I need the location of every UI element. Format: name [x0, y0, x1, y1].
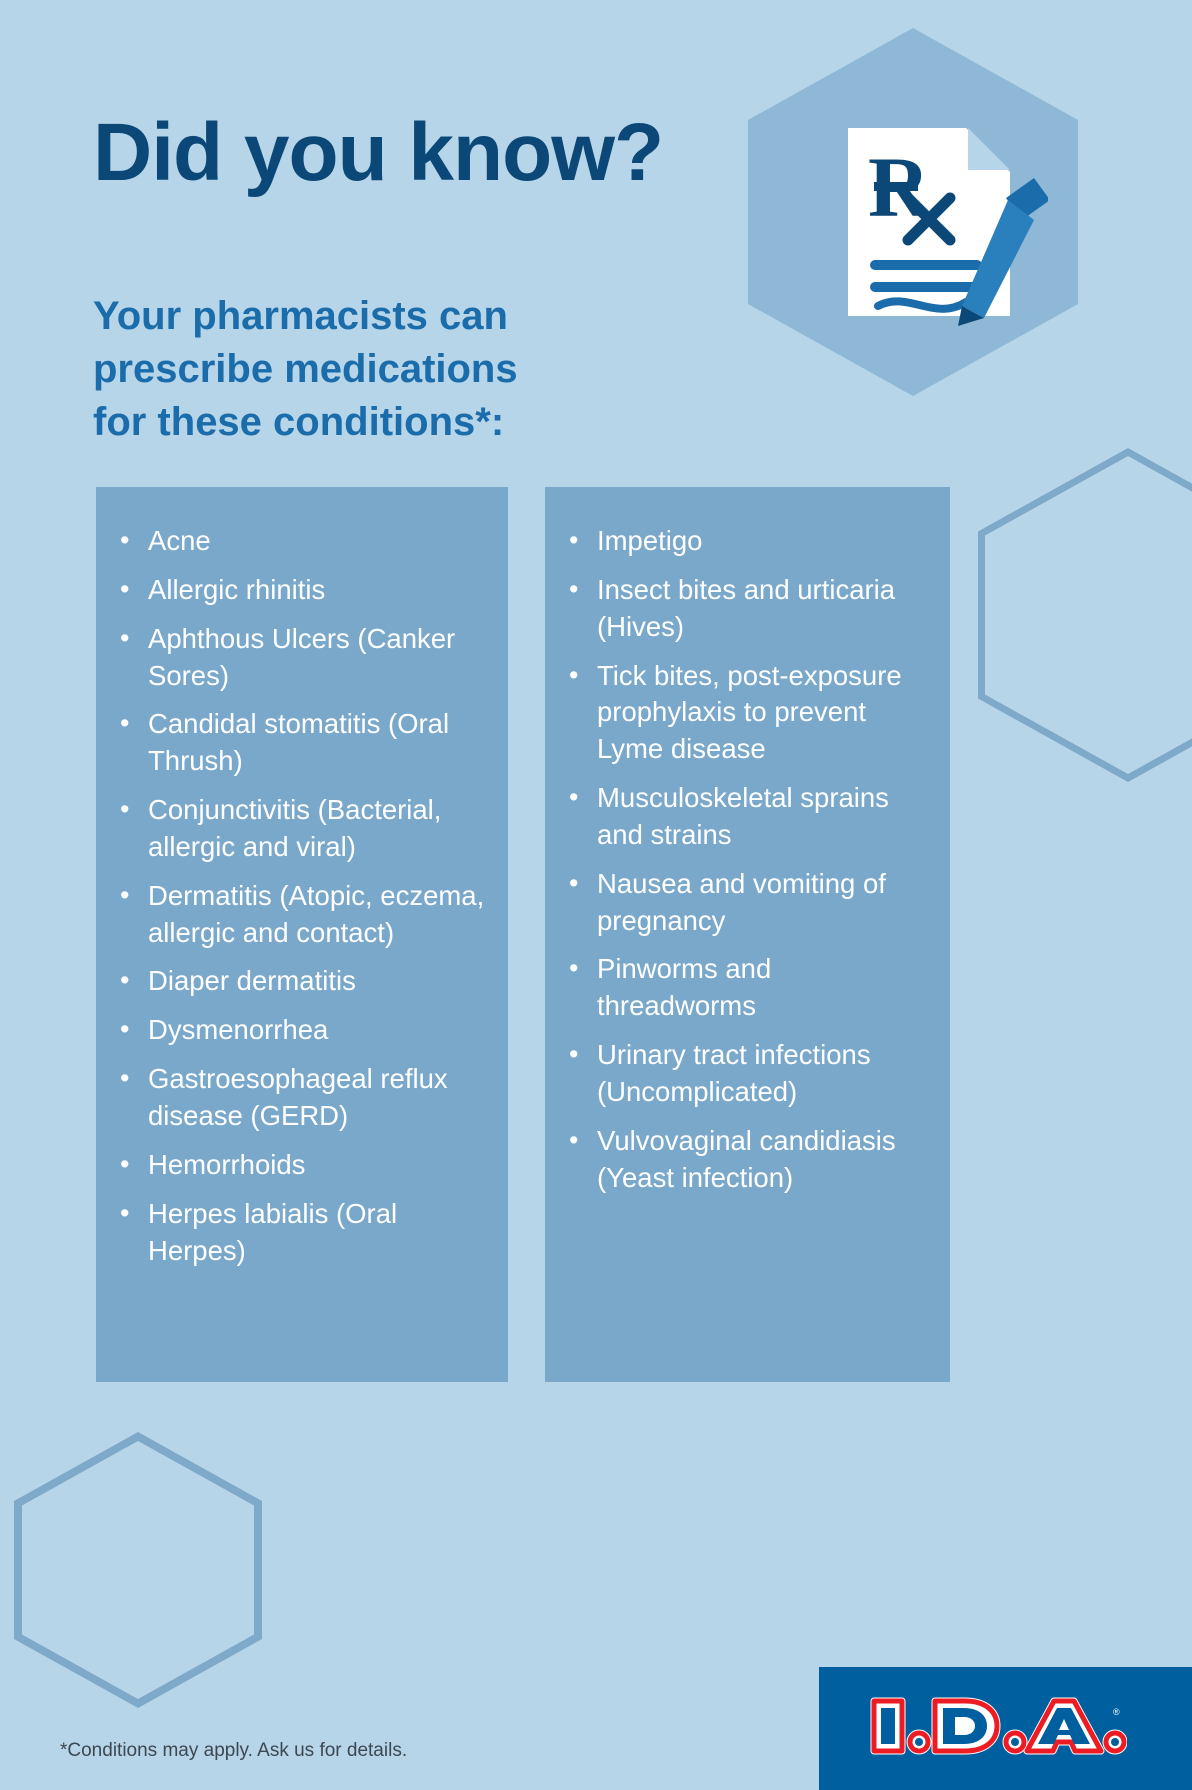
list-item: Insect bites and urticaria (Hives) — [567, 572, 936, 646]
ida-logo: ® — [819, 1667, 1192, 1790]
list-item: Dysmenorrhea — [118, 1012, 494, 1049]
subtitle-line-3: for these conditions*: — [93, 396, 653, 449]
list-item: Diaper dermatitis — [118, 963, 494, 1000]
list-item: Conjunctivitis (Bacterial, allergic and … — [118, 792, 494, 866]
list-item: Hemorrhoids — [118, 1147, 494, 1184]
list-item: Aphthous Ulcers (Canker Sores) — [118, 621, 494, 695]
page-subtitle: Your pharmacists can prescribe medicatio… — [93, 290, 653, 450]
list-item: Gastroesophageal reflux disease (GERD) — [118, 1061, 494, 1135]
registered-trademark-symbol: ® — [1113, 1707, 1120, 1717]
list-item: Vulvovaginal candidiasis (Yeast infectio… — [567, 1123, 936, 1197]
list-item: Musculoskeletal sprains and strains — [567, 780, 936, 854]
conditions-list-left: Acne Allergic rhinitis Aphthous Ulcers (… — [96, 487, 508, 1269]
hexagon-outline-right-inner — [985, 456, 1192, 774]
list-item: Herpes labialis (Oral Herpes) — [118, 1196, 494, 1270]
ida-logo-mark: ® — [869, 1695, 1127, 1757]
list-item: Pinworms and threadworms — [567, 951, 936, 1025]
subtitle-line-2: prescribe medications — [93, 343, 653, 396]
list-item: Nausea and vomiting of pregnancy — [567, 866, 936, 940]
footnote-text: *Conditions may apply. Ask us for detail… — [60, 1740, 407, 1762]
list-item: Acne — [118, 523, 494, 560]
list-item: Dermatitis (Atopic, eczema, allergic and… — [118, 878, 494, 952]
list-item: Tick bites, post-exposure prophylaxis to… — [567, 658, 936, 769]
list-item: Allergic rhinitis — [118, 572, 494, 609]
poster-canvas: R Did you know? Your pharmacists can pre… — [0, 0, 1192, 1790]
conditions-panel-right: Impetigo Insect bites and urticaria (Hiv… — [545, 487, 950, 1382]
list-item: Impetigo — [567, 523, 936, 560]
subtitle-line-1: Your pharmacists can — [93, 290, 653, 343]
conditions-list-right: Impetigo Insect bites and urticaria (Hiv… — [545, 487, 950, 1197]
list-item: Urinary tract infections (Uncomplicated) — [567, 1037, 936, 1111]
list-item: Candidal stomatitis (Oral Thrush) — [118, 706, 494, 780]
prescription-pad-icon: R — [838, 120, 1048, 335]
page-title: Did you know? — [93, 112, 663, 194]
conditions-panel-left: Acne Allergic rhinitis Aphthous Ulcers (… — [96, 487, 508, 1382]
